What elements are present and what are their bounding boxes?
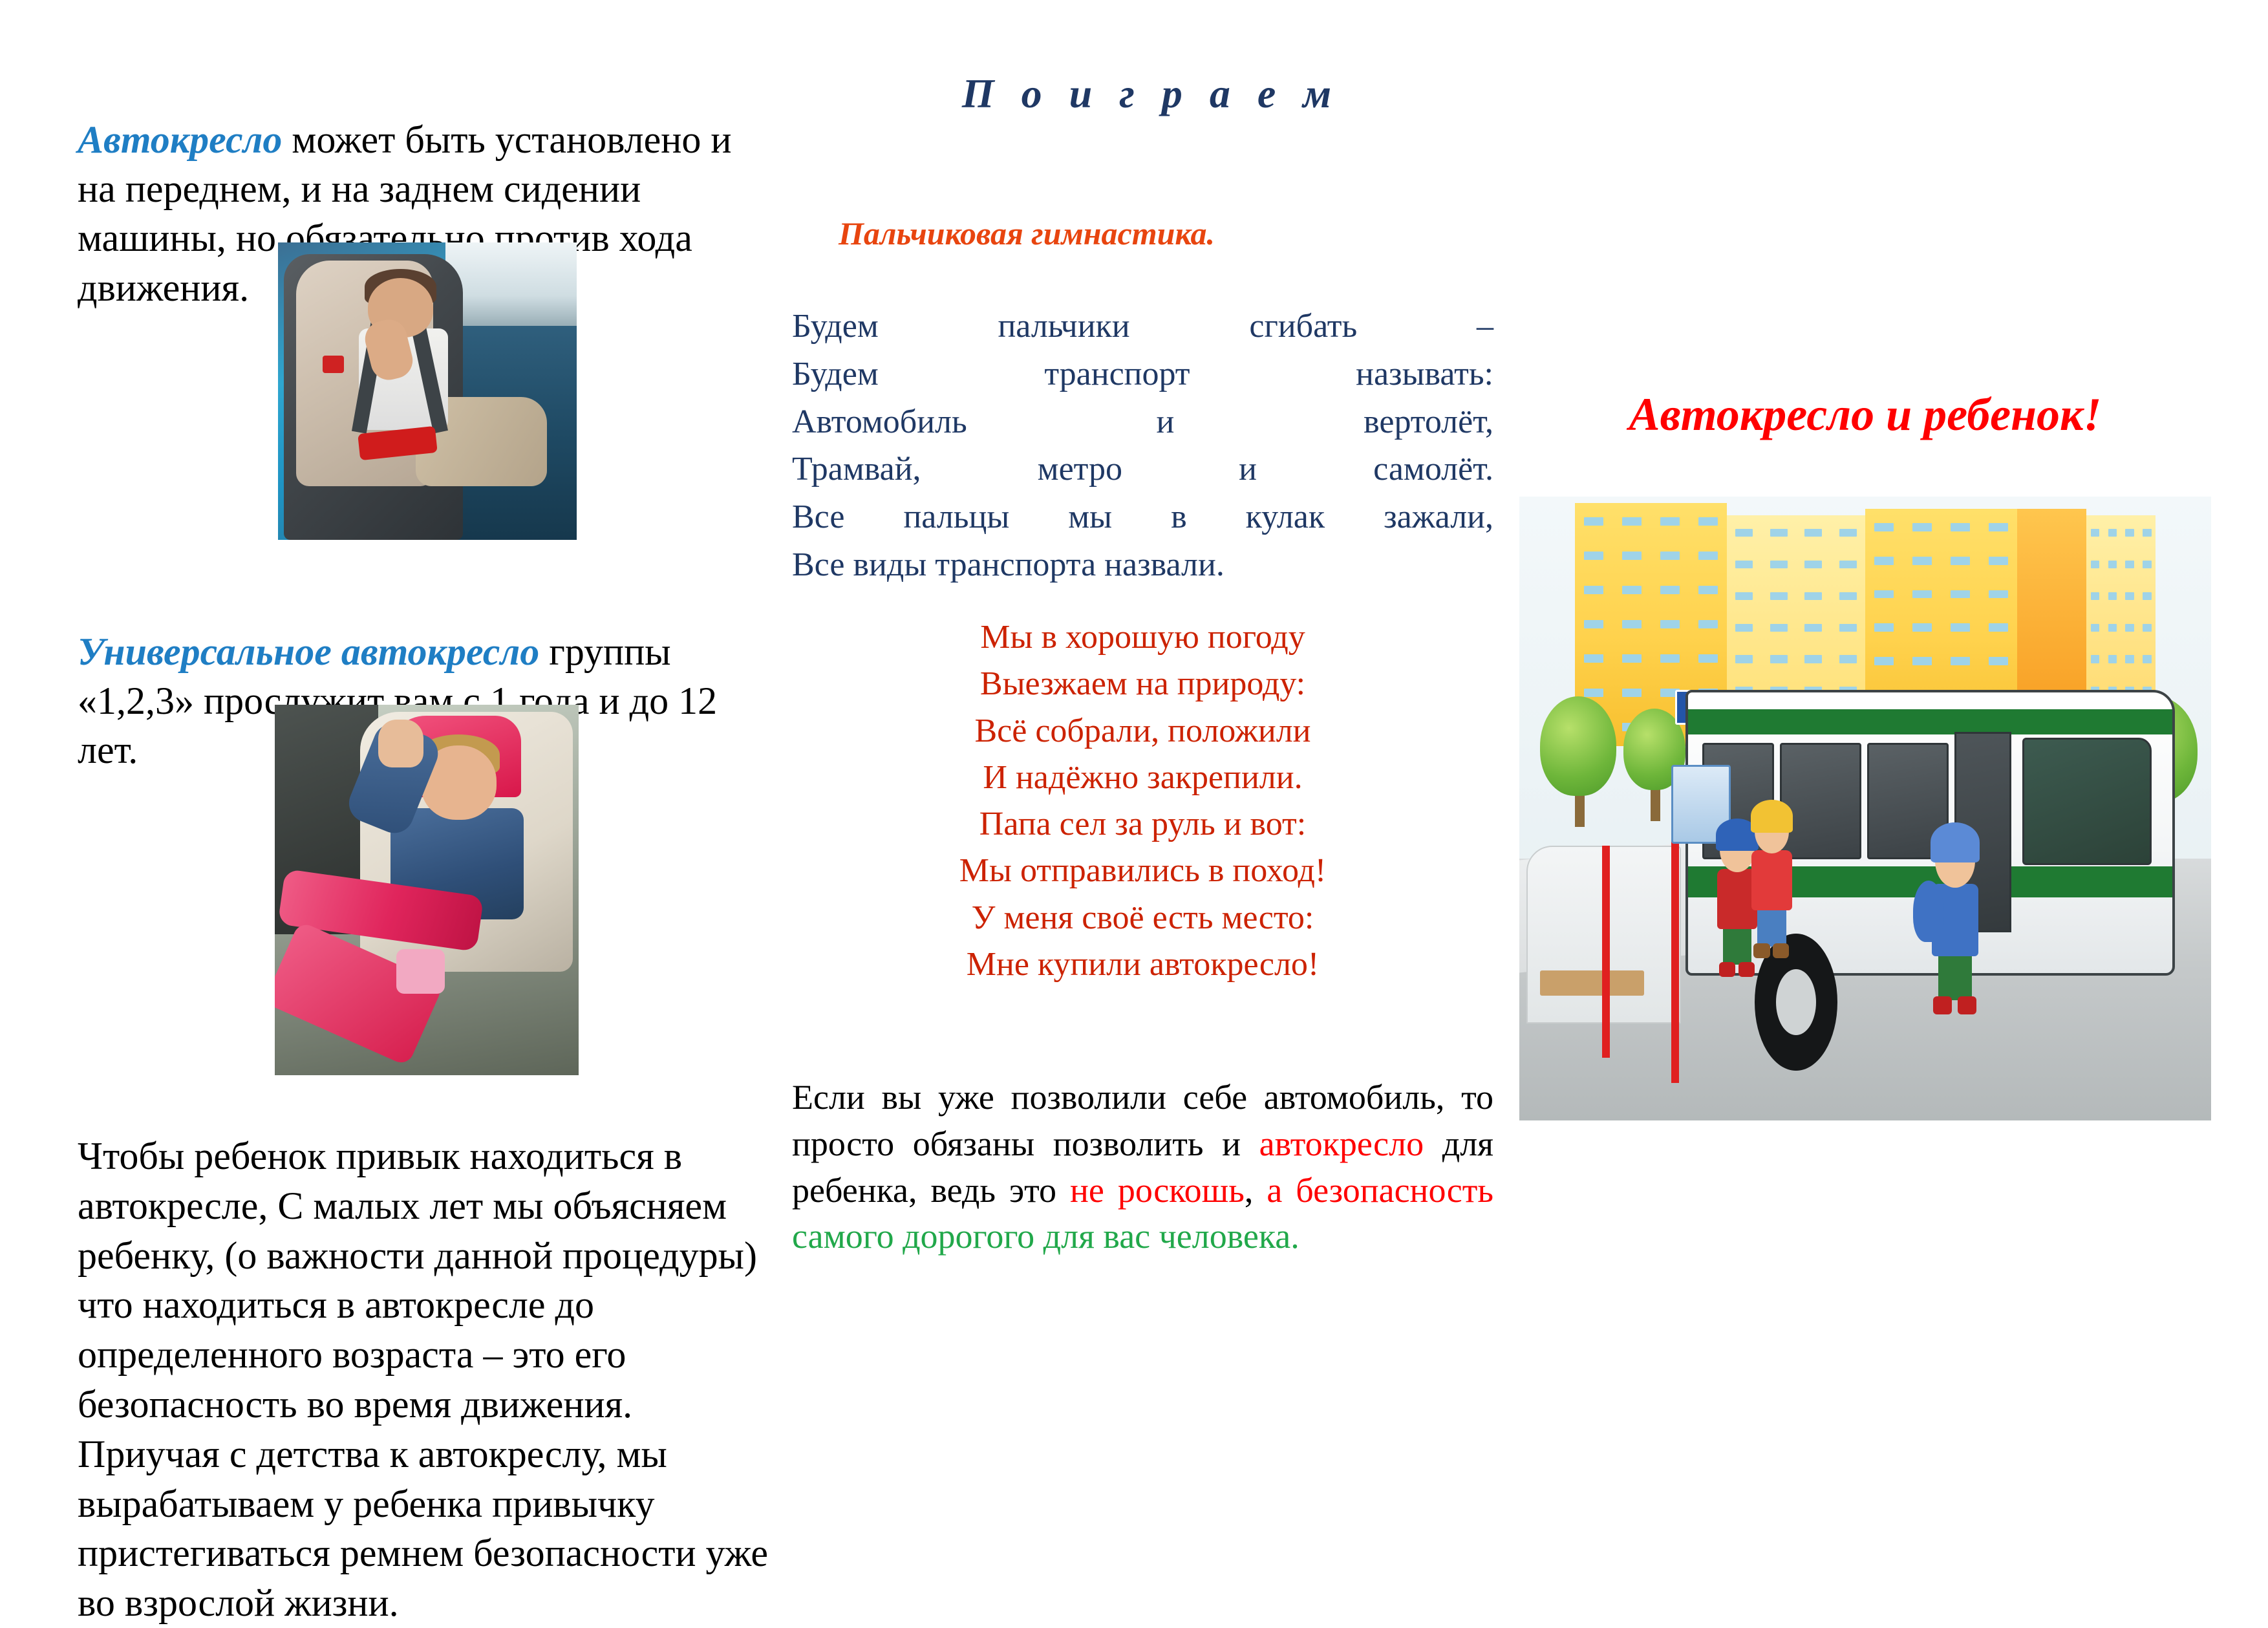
poem-line: Все виды транспорта назвали. [792, 541, 1493, 589]
illustration-child-cap [1931, 822, 1979, 862]
poem-line: Все пальцы мы в кулак зажали, [792, 493, 1493, 541]
illustration-backpack [1913, 881, 1944, 942]
closing-segment-not-luxury: не роскошь [1070, 1171, 1245, 1210]
lead-term-carseat: Автокресло [78, 118, 282, 161]
photo1-car-window [445, 242, 577, 332]
closing-segment-safety: а безопасность [1267, 1171, 1493, 1210]
illustration-child-body [1751, 850, 1792, 910]
illustration-child-shoe [1933, 996, 1952, 1014]
photo-child-in-pink-carseat [275, 705, 579, 1075]
paragraph-habit: Чтобы ребенок привык находиться в автокр… [78, 1131, 782, 1628]
illustration-tree [1540, 696, 1616, 796]
closing-segment-dearest-person: самого дорогого для вас человека. [792, 1217, 1300, 1256]
photo-child-in-carseat-rear [278, 242, 577, 540]
subtitle-finger-gymnastics: Пальчиковая гимнастика. [839, 215, 1504, 252]
photo2-child-hand-waving [378, 720, 424, 767]
right-column: Автокресло и ребенок! [1513, 0, 2218, 1603]
poem-line: Мы в хорошую погоду [792, 614, 1493, 661]
left-column: Автокресло может быть установлено и на п… [78, 0, 782, 1603]
illustration-child [1927, 833, 1983, 1014]
poem-line: И надёжно закрепили. [792, 755, 1493, 801]
illustration-child-shoe [1958, 996, 1976, 1014]
illustration-shelter-post [1671, 809, 1679, 1084]
illustration-shelter-bench [1540, 970, 1644, 996]
section-heading-lets-play: П о и г р а е м [792, 70, 1510, 118]
poem-line: Будем транспорт называть: [792, 350, 1493, 398]
illustration-child-hair [1751, 800, 1793, 833]
poem-line: Мы отправились в поход! [792, 848, 1493, 894]
poem-line: Будем пальчики сгибать – [792, 303, 1493, 350]
photo1-red-belt-guide [323, 356, 343, 374]
poem-trip: Мы в хорошую погоду Выезжаем на природу:… [792, 614, 1493, 988]
poem-line: Мне купили автокресло! [792, 941, 1493, 988]
illustration-child-shoe [1773, 943, 1789, 958]
illustration-child-shoe [1738, 962, 1755, 977]
illustration-child-legs [1757, 907, 1786, 946]
paragraph-closing-appeal: Если вы уже позволили себе автомобиль, т… [792, 1075, 1493, 1260]
illustration-child [1748, 809, 1796, 959]
illustration-child-shoe [1719, 962, 1735, 977]
illustration-bus-windshield [2022, 738, 2152, 865]
lead-term-universal-carseat: Универсальное автокресло [78, 630, 539, 673]
illustration-child-shoe [1753, 943, 1770, 958]
illustration-child-legs [1938, 953, 1971, 1000]
poem-line: У меня своё есть место: [792, 895, 1493, 941]
closing-segment-5: , [1245, 1171, 1267, 1210]
page-title-carseat-and-child: Автокресло и ребенок! [1513, 388, 2218, 442]
poem-line: Трамвай, метро и самолёт. [792, 445, 1493, 493]
illustration-shelter-post [1602, 846, 1610, 1058]
poem-line: Выезжаем на природу: [792, 661, 1493, 707]
middle-column: П о и г р а е м Пальчиковая гимнастика. … [792, 0, 1510, 1603]
poem-line: Папа сел за руль и вот: [792, 801, 1493, 848]
illustration-children-at-bus-stop [1519, 497, 2211, 1120]
illustration-bus-stripe-upper [1688, 709, 2172, 734]
photo2-harness-buckle [396, 949, 445, 994]
poem-line: Автомобиль и вертолёт, [792, 398, 1493, 446]
poem-finger-gymnastics: Будем пальчики сгибать – Будем транспорт… [792, 303, 1493, 589]
closing-segment-carseat: автокресло [1259, 1124, 1424, 1163]
poem-line: Всё собрали, положили [792, 708, 1493, 755]
